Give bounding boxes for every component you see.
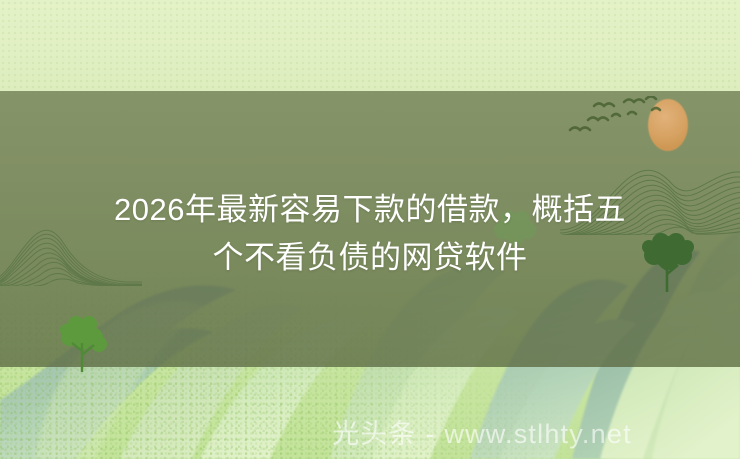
tree-left-icon xyxy=(58,316,116,376)
watermark: 光头条 - www.stlhty.net xyxy=(0,417,740,451)
watermark-text: 光头条 - www.stlhty.net xyxy=(332,417,632,451)
flying-birds-icon xyxy=(566,96,676,144)
page-title: 2026年最新容易下款的借款，概括五 个不看负债的网贷软件 xyxy=(0,186,740,282)
top-band-texture xyxy=(0,0,740,91)
banner-image: 2026年最新容易下款的借款，概括五 个不看负债的网贷软件 光头条 - www.… xyxy=(0,0,740,459)
